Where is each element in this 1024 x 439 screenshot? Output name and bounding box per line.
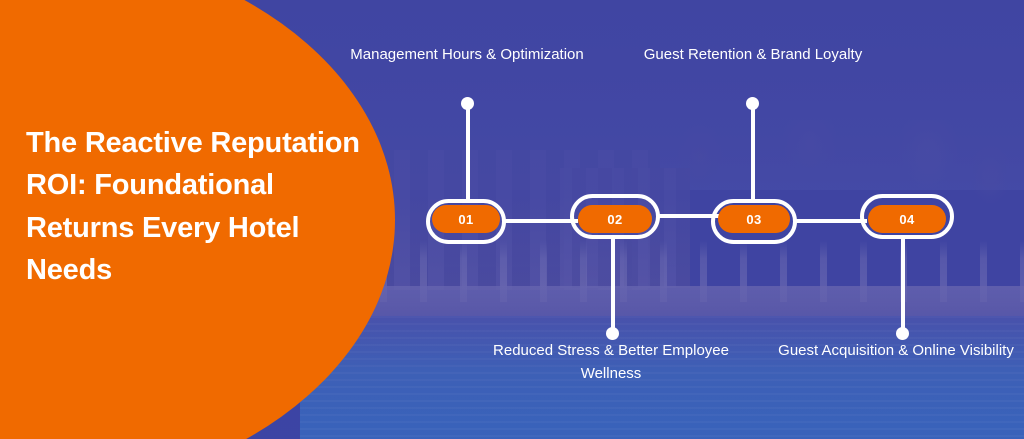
node-dot-02 (606, 327, 619, 340)
node-label-01: Management Hours & Optimization (347, 44, 587, 67)
connector-vertical-04 (901, 237, 905, 331)
step-pill-02[interactable]: 02 (578, 205, 652, 233)
node-label-04: Guest Acquisition & Online Visibility (776, 340, 1016, 363)
step-pill-01[interactable]: 01 (432, 205, 500, 233)
connector-vertical-01 (466, 104, 470, 201)
node-label-02: Reduced Stress & Better Employee Wellnes… (491, 340, 731, 386)
connector-vertical-03 (751, 104, 755, 199)
step-number-02: 02 (607, 212, 622, 227)
step-number-03: 03 (746, 212, 761, 227)
step-number-04: 04 (899, 212, 914, 227)
step-pill-04[interactable]: 04 (868, 205, 946, 233)
connector-vertical-02 (611, 237, 615, 331)
step-number-01: 01 (458, 212, 473, 227)
infographic-banner: The Reactive Reputation ROI: Foundationa… (0, 0, 1024, 439)
connector-03-04 (795, 219, 867, 223)
connector-01-02 (504, 219, 578, 223)
node-label-03: Guest Retention & Brand Loyalty (633, 44, 873, 67)
timeline: Management Hours & Optimization 01 02 Re… (0, 0, 1024, 439)
node-dot-04 (896, 327, 909, 340)
step-pill-03[interactable]: 03 (718, 205, 790, 233)
